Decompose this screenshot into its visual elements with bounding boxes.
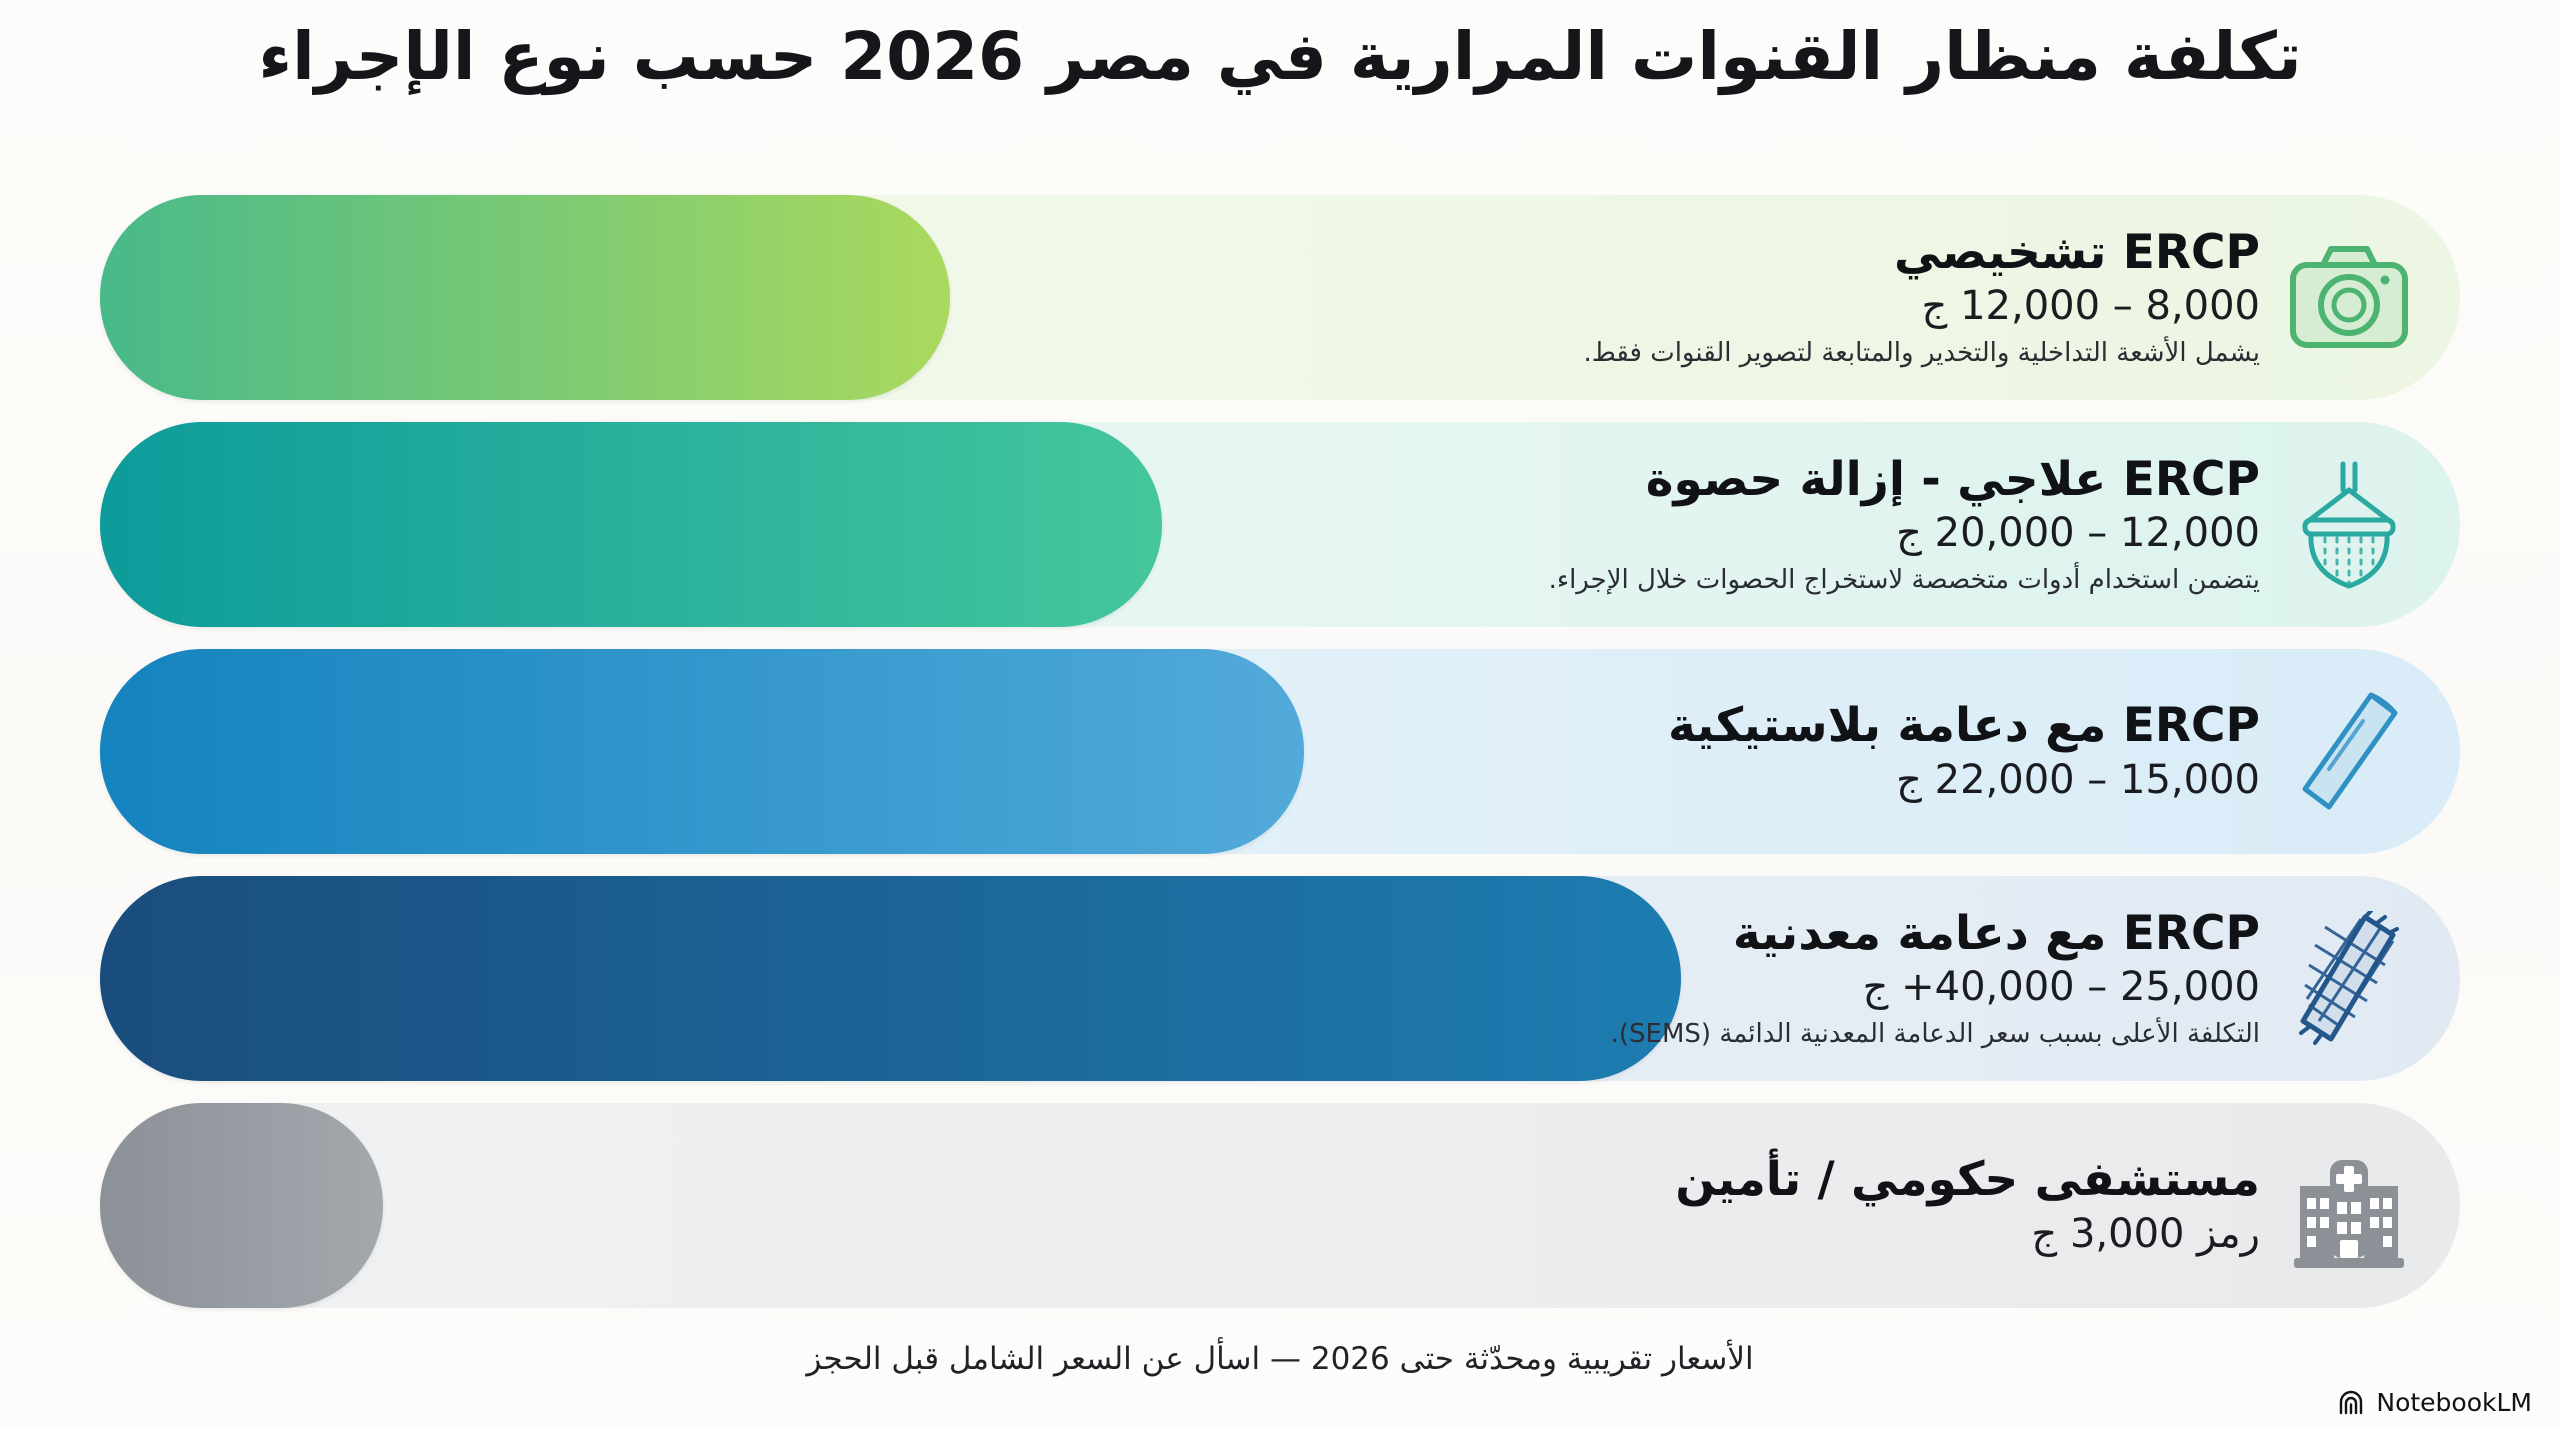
row-note: يتضمن استخدام أدوات متخصصة لاستخراج الحص…	[110, 564, 2260, 597]
row-title: مستشفى حكومي / تأمين	[110, 1153, 2260, 1207]
row-price: 25,000 – 40,000+ ج	[110, 964, 2260, 1011]
footer-note: الأسعار تقريبية ومحدّثة حتى 2026 — اسأل …	[0, 1341, 2560, 1377]
row-content: ERCP مع دعامة بلاستيكية 15,000 – 22,000 …	[100, 677, 2460, 827]
row-price: 8,000 – 12,000 ج	[110, 283, 2260, 330]
row-title: ERCP تشخيصي	[110, 226, 2260, 280]
metal-stent-icon	[2274, 904, 2424, 1054]
notebooklm-label: NotebookLM	[2376, 1388, 2532, 1417]
cost-row: ERCP مع دعامة بلاستيكية 15,000 – 22,000 …	[100, 649, 2460, 854]
infographic-canvas: تكلفة منظار القنوات المرارية في مصر 2026…	[0, 0, 2560, 1429]
row-texts: ERCP علاجي - إزالة حصوة 12,000 – 20,000 …	[100, 453, 2274, 596]
notebooklm-brand: NotebookLM	[2338, 1388, 2532, 1417]
cost-row: ERCP تشخيصي 8,000 – 12,000 ج يشمل الأشعة…	[100, 195, 2460, 400]
row-note: يشمل الأشعة التداخلية والتخدير والمتابعة…	[110, 337, 2260, 370]
plastic-stent-icon	[2274, 677, 2424, 827]
row-price: 12,000 – 20,000 ج	[110, 510, 2260, 557]
page-title: تكلفة منظار القنوات المرارية في مصر 2026…	[0, 18, 2560, 96]
cost-row: ERCP علاجي - إزالة حصوة 12,000 – 20,000 …	[100, 422, 2460, 627]
row-title: ERCP علاجي - إزالة حصوة	[110, 453, 2260, 507]
row-texts: ERCP مع دعامة بلاستيكية 15,000 – 22,000 …	[100, 699, 2274, 804]
row-title: ERCP مع دعامة معدنية	[110, 907, 2260, 961]
row-price: رمز 3,000 ج	[110, 1211, 2260, 1258]
camera-icon	[2274, 223, 2424, 373]
row-texts: مستشفى حكومي / تأمين رمز 3,000 ج	[100, 1153, 2274, 1258]
row-texts: ERCP مع دعامة معدنية 25,000 – 40,000+ ج …	[100, 907, 2274, 1050]
row-texts: ERCP تشخيصي 8,000 – 12,000 ج يشمل الأشعة…	[100, 226, 2274, 369]
cost-row: ERCP مع دعامة معدنية 25,000 – 40,000+ ج …	[100, 876, 2460, 1081]
row-title: ERCP مع دعامة بلاستيكية	[110, 699, 2260, 753]
row-content: ERCP مع دعامة معدنية 25,000 – 40,000+ ج …	[100, 904, 2460, 1054]
hospital-icon	[2274, 1131, 2424, 1281]
cost-rows-list: ERCP تشخيصي 8,000 – 12,000 ج يشمل الأشعة…	[100, 195, 2460, 1330]
notebooklm-spiral-icon	[2338, 1390, 2366, 1416]
row-content: ERCP علاجي - إزالة حصوة 12,000 – 20,000 …	[100, 450, 2460, 600]
stone-basket-icon	[2274, 450, 2424, 600]
row-note: التكلفة الأعلى بسبب سعر الدعامة المعدنية…	[110, 1018, 2260, 1051]
cost-row: مستشفى حكومي / تأمين رمز 3,000 ج	[100, 1103, 2460, 1308]
row-content: ERCP تشخيصي 8,000 – 12,000 ج يشمل الأشعة…	[100, 223, 2460, 373]
row-content: مستشفى حكومي / تأمين رمز 3,000 ج	[100, 1131, 2460, 1281]
row-price: 15,000 – 22,000 ج	[110, 757, 2260, 804]
